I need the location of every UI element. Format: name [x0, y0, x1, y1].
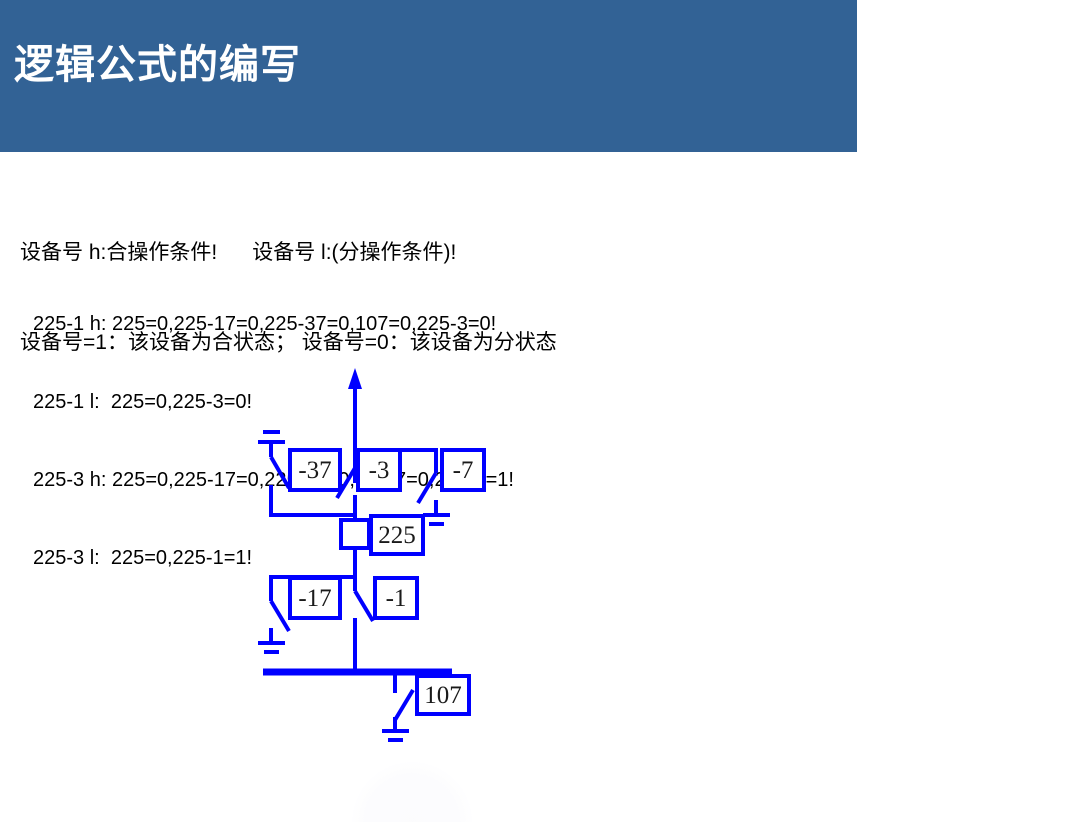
page-title: 逻辑公式的编写: [14, 32, 301, 90]
label-box-sw-107: 107: [417, 676, 469, 714]
formula-line-225-1-h: 225-1 h: 225=0,225-17=0,225-37=0,107=0,2…: [33, 311, 514, 337]
device-sw-107[interactable]: [382, 672, 413, 740]
label-box-sw-17: -17: [290, 578, 340, 618]
label-sw-17: -17: [298, 585, 331, 612]
label-box-sw-7: -7: [442, 450, 484, 490]
device-sw-1[interactable]: [355, 577, 373, 672]
label-cb-225: 225: [378, 522, 416, 549]
label-sw-7: -7: [453, 457, 474, 484]
device-sw-17[interactable]: [258, 601, 289, 652]
label-sw-37: -37: [298, 457, 331, 484]
background-watermark: [352, 762, 472, 822]
label-box-sw-1: -1: [375, 578, 417, 618]
device-cb-225[interactable]: [341, 520, 369, 577]
label-box-sw-37: -37: [290, 450, 340, 490]
label-sw-107: 107: [424, 682, 462, 709]
label-sw-3: -3: [369, 457, 390, 484]
title-banner: 逻辑公式的编写: [0, 0, 857, 152]
label-box-sw-3: -3: [358, 450, 400, 490]
label-box-cb-225: 225: [371, 516, 423, 554]
diagram-canvas: -37 -3 -7: [240, 365, 520, 755]
label-sw-1: -1: [386, 585, 407, 612]
single-line-diagram: -37 -3 -7: [240, 365, 520, 755]
